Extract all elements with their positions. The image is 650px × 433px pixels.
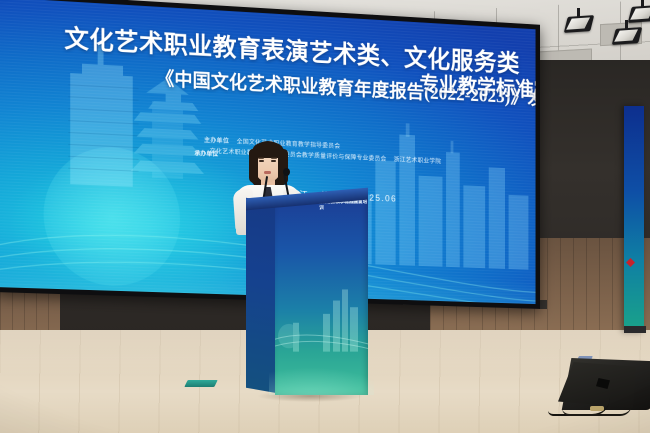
monitor-plug-icon [590,406,604,411]
hair-right [278,149,288,185]
rollup-accent-icon [626,258,635,267]
rollup-banner-base [624,326,646,333]
host-label: 主办单位 [204,137,229,145]
eyebrow-right [271,157,277,159]
microphone-head-icon [283,168,290,176]
floor-marker-object [184,380,217,387]
rollup-banner [624,106,644,332]
mouth [264,171,271,174]
hair-left [249,149,258,183]
podium-wave-art [269,340,373,395]
stage-monitor-speaker [556,352,650,414]
podium-front-panel: 文化艺术职业教育 表演艺术类、文化服务类专业教学标准宣贯培训 《中国文化艺术职业… [275,199,368,395]
conference-hall-scene: 文化艺术职业教育表演艺术类、文化服务类 《中国文化艺术职业教育年度报告(2022… [0,0,650,433]
podium: 文化艺术职业教育 表演艺术类、文化服务类专业教学标准宣贯培训 《中国文化艺术职业… [246,199,368,395]
wall-outlet-icon [539,300,547,309]
eyebrow-left [258,157,264,159]
eye-right [271,160,276,162]
cohost-value-2: 浙江艺术职业学院 [394,157,442,166]
eye-left [259,160,264,162]
